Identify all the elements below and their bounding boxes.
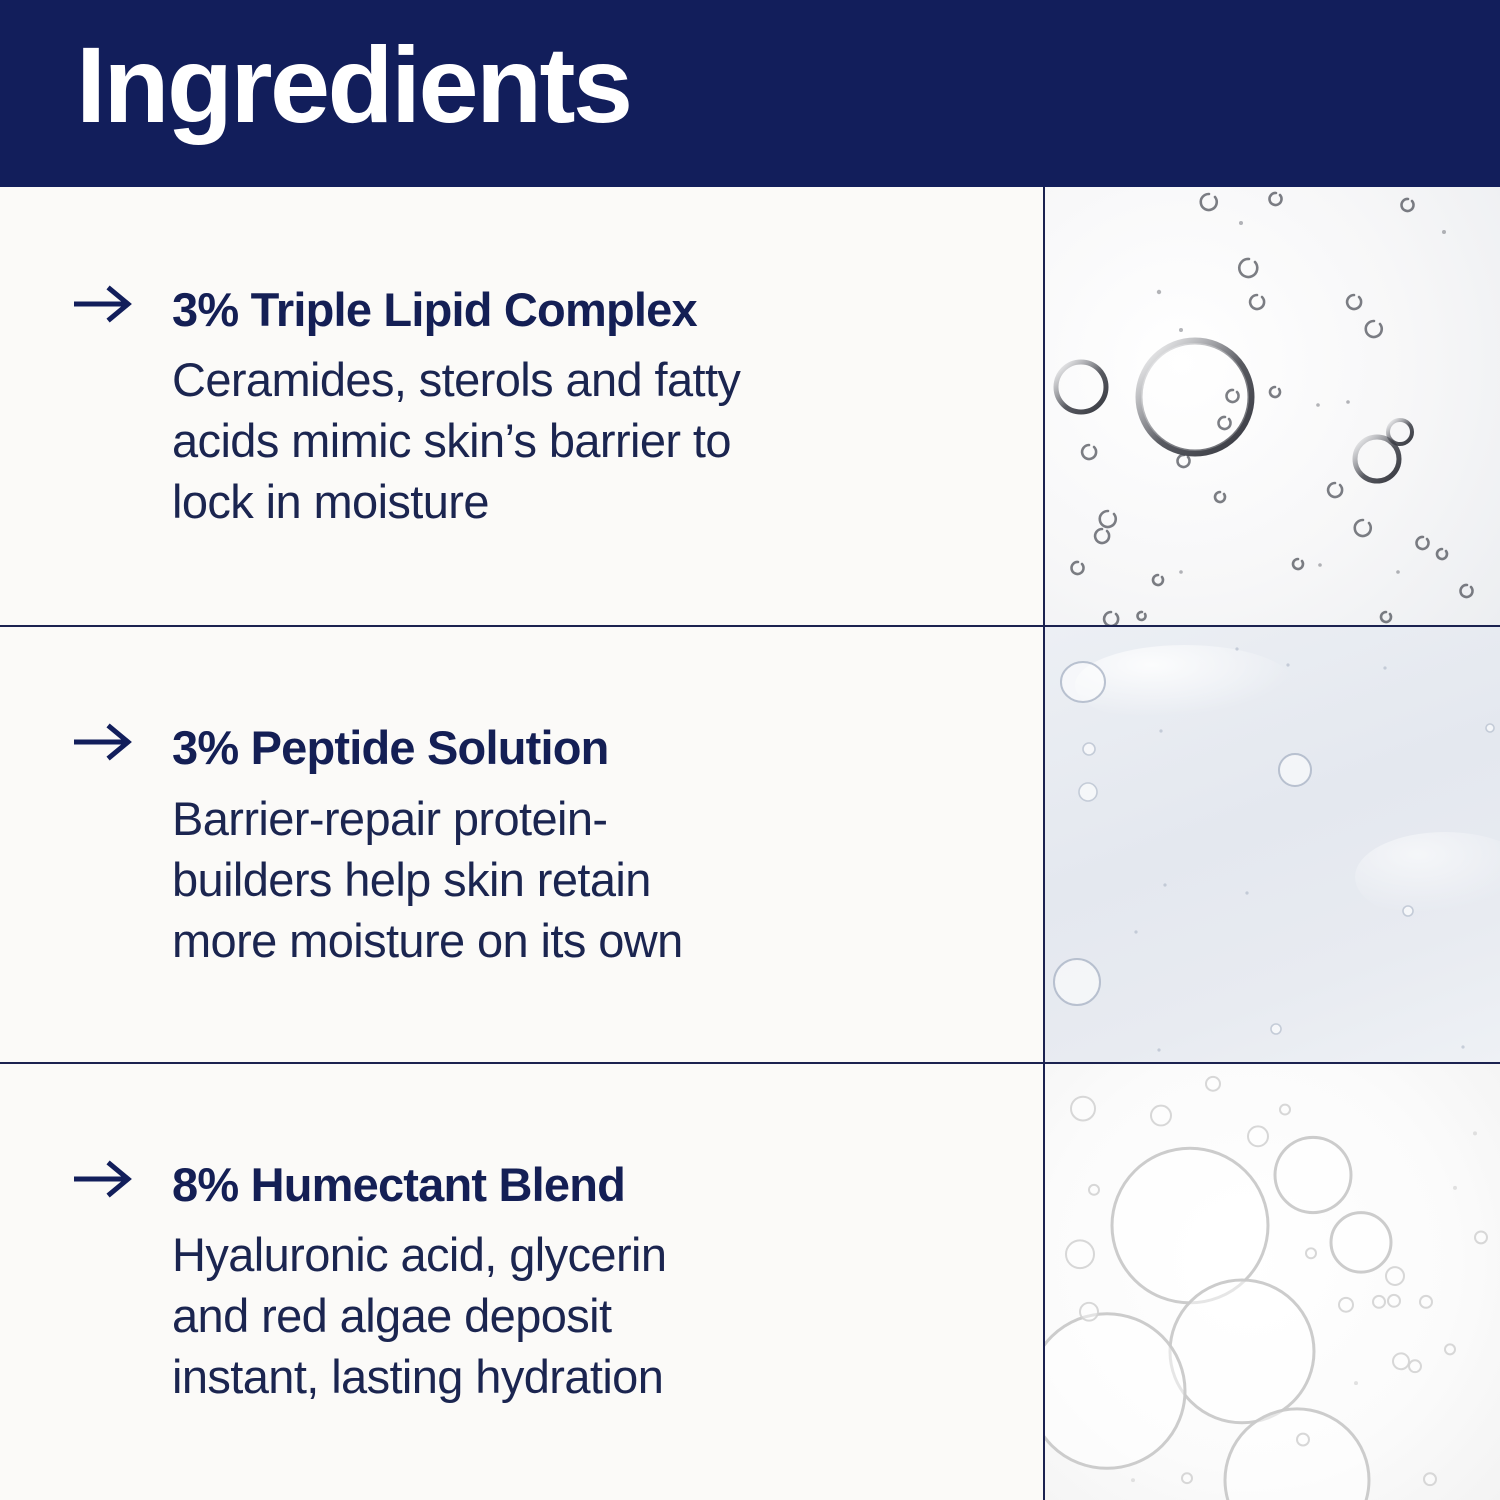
humectant-gel-swatch	[1045, 1064, 1500, 1500]
row-divider	[0, 625, 1500, 627]
ingredient-text-cell: 3% Triple Lipid Complex Ceramides, stero…	[0, 187, 1043, 627]
arrow-right-icon	[72, 282, 172, 324]
ingredient-description: Hyaluronic acid, glycerin and red algae …	[172, 1224, 972, 1407]
lipid-serum-swatch	[1045, 187, 1500, 627]
ingredient-text-cell: 3% Peptide Solution Barrier-repair prote…	[0, 627, 1043, 1064]
arrow-right-icon	[72, 1157, 172, 1199]
page-title: Ingredients	[76, 28, 631, 142]
ingredient-row: 3% Triple Lipid Complex Ceramides, stero…	[0, 187, 1500, 627]
ingredient-title: 8% Humectant Blend	[172, 1157, 625, 1212]
ingredient-title: 3% Peptide Solution	[172, 720, 609, 775]
ingredients-infographic: Ingredients 3% Triple Lipid Complex	[0, 0, 1500, 1500]
ingredient-title: 3% Triple Lipid Complex	[172, 282, 697, 337]
ingredient-heading: 8% Humectant Blend	[72, 1157, 1003, 1212]
header-banner: Ingredients	[0, 0, 1500, 187]
arrow-right-icon	[72, 720, 172, 762]
ingredient-description: Barrier-repair protein- builders help sk…	[172, 788, 972, 971]
ingredient-heading: 3% Triple Lipid Complex	[72, 282, 1003, 337]
bubble-texture	[1045, 627, 1500, 1064]
ingredient-text-cell: 8% Humectant Blend Hyaluronic acid, glyc…	[0, 1064, 1043, 1500]
ingredient-row: 8% Humectant Blend Hyaluronic acid, glyc…	[0, 1064, 1500, 1500]
bubble-texture	[1045, 1064, 1500, 1500]
ingredients-grid: 3% Triple Lipid Complex Ceramides, stero…	[0, 187, 1500, 1500]
ingredient-description: Ceramides, sterols and fatty acids mimic…	[172, 349, 972, 532]
ingredient-heading: 3% Peptide Solution	[72, 720, 1003, 775]
column-divider	[1043, 187, 1045, 1500]
bubble-texture	[1045, 187, 1500, 627]
peptide-gel-swatch	[1045, 627, 1500, 1064]
ingredient-row: 3% Peptide Solution Barrier-repair prote…	[0, 627, 1500, 1064]
row-divider	[0, 1062, 1500, 1064]
